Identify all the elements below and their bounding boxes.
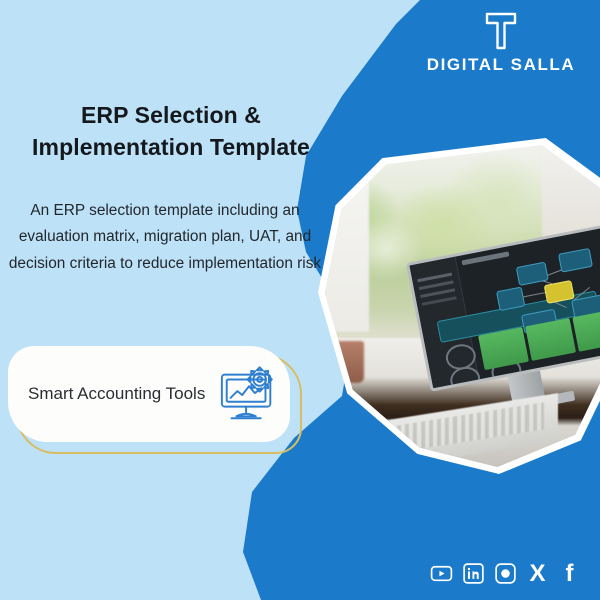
- facebook-icon[interactable]: f: [557, 561, 582, 586]
- letter-t-monogram-icon: [481, 10, 521, 52]
- instagram-icon[interactable]: [493, 561, 518, 586]
- photo-coffee-cup: [328, 341, 364, 383]
- page-title-line-2: Implementation Template: [8, 132, 334, 164]
- poster-canvas: DIGITAL SALLA ERP Selection & Implementa…: [0, 0, 600, 600]
- dashboard-flow-node: [557, 248, 592, 272]
- youtube-icon[interactable]: [429, 561, 454, 586]
- badge-container: Smart Accounting Tools: [8, 346, 290, 442]
- dashboard-flow-node: [495, 287, 524, 311]
- page-title-line-1: ERP Selection &: [8, 100, 334, 132]
- brand-logo: DIGITAL SALLA: [426, 10, 576, 73]
- dashboard-title-bar: [461, 251, 509, 265]
- smart-accounting-tools-badge[interactable]: Smart Accounting Tools: [8, 346, 290, 442]
- brand-name: DIGITAL SALLA: [426, 56, 576, 73]
- linkedin-icon[interactable]: [461, 561, 486, 586]
- description-text: An ERP selection template including an e…: [6, 198, 324, 277]
- x-glyph: X: [529, 562, 545, 586]
- badge-label: Smart Accounting Tools: [28, 384, 218, 404]
- x-twitter-icon[interactable]: X: [525, 561, 550, 586]
- page-title: ERP Selection & Implementation Template: [8, 100, 334, 163]
- social-links: X f: [429, 561, 582, 586]
- dashboard-flow-link: [521, 292, 547, 298]
- monitor-gear-chart-icon: [218, 363, 280, 425]
- facebook-glyph: f: [566, 562, 574, 586]
